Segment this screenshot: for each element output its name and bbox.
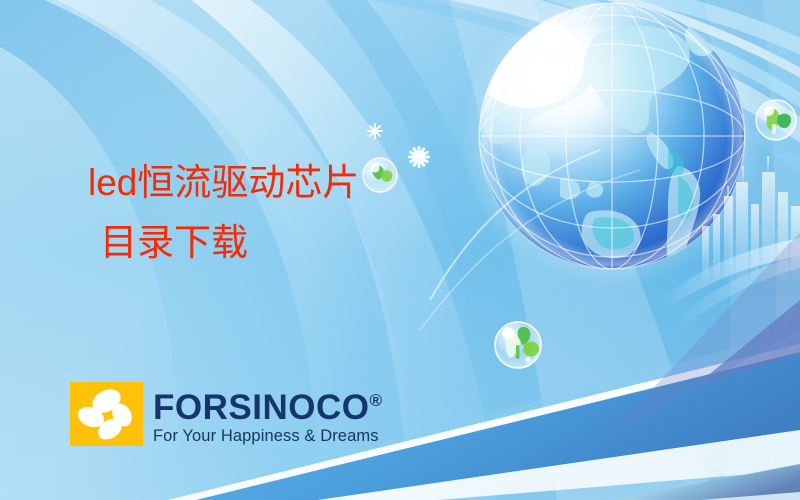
eco-bubble-large (495, 322, 541, 368)
headline-line-2: 目录下载 (88, 224, 508, 261)
registered-trademark-icon: ® (369, 391, 382, 410)
company-logo[interactable]: FORSINOCO® For Your Happiness & Dreams (70, 382, 382, 446)
headline-line-1: led恒流驱动芯片 (88, 164, 508, 201)
pinwheel-flower-icon (70, 382, 143, 446)
logo-tagline: For Your Happiness & Dreams (153, 426, 379, 446)
banner-image: led恒流驱动芯片 目录下载 FORSINOCO® For Your Happi… (0, 0, 800, 500)
eco-bubble-right (756, 100, 796, 140)
logo-wordmark-text: FORSINOCO (153, 388, 369, 427)
sparkle-star-a (367, 123, 383, 139)
headline-text: led恒流驱动芯片 目录下载 (88, 164, 508, 261)
logo-text-block: FORSINOCO® For Your Happiness & Dreams (153, 382, 382, 446)
logo-wordmark: FORSINOCO® (153, 384, 382, 425)
logo-mark-tile (70, 382, 143, 446)
